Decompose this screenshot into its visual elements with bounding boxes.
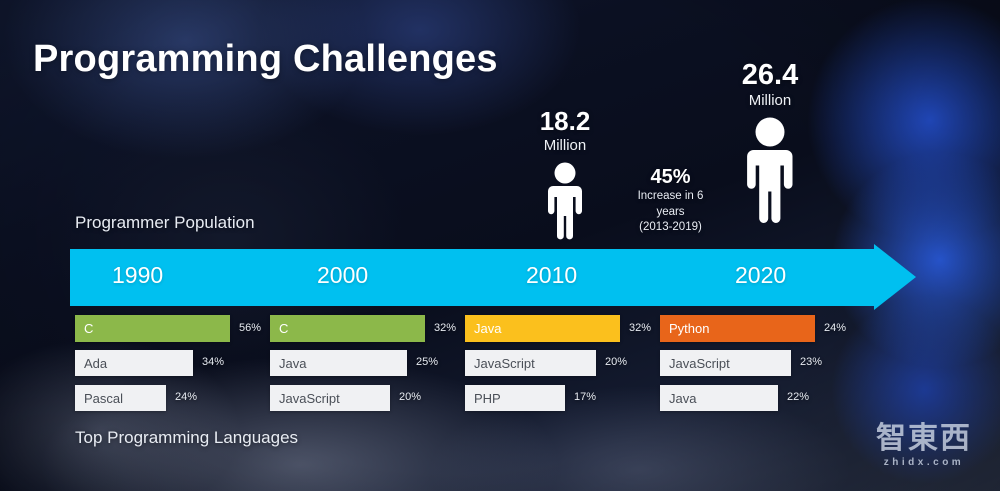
language-percent: 22% bbox=[787, 391, 809, 403]
population-value: 26.4 bbox=[705, 60, 835, 90]
language-percent: 25% bbox=[416, 356, 438, 368]
language-percent: 20% bbox=[399, 391, 421, 403]
increase-line-1: Increase in 6 bbox=[608, 189, 733, 205]
language-name: C bbox=[279, 321, 288, 336]
population-value: 18.2 bbox=[505, 108, 625, 135]
language-name: Pascal bbox=[84, 391, 123, 406]
language-row: JavaScript23% bbox=[660, 350, 860, 382]
language-percent: 24% bbox=[824, 322, 846, 334]
timeline-year-1990: 1990 bbox=[112, 262, 163, 289]
language-row: Java32% bbox=[465, 315, 665, 347]
language-column-2000: C32%Java25%JavaScript20% bbox=[270, 315, 470, 420]
language-name: Ada bbox=[84, 356, 107, 371]
person-icon bbox=[542, 162, 588, 245]
language-row: Java25% bbox=[270, 350, 470, 382]
language-bar-c[interactable]: C bbox=[270, 315, 425, 342]
population-unit: Million bbox=[505, 135, 625, 158]
language-bar-c[interactable]: C bbox=[75, 315, 230, 342]
population-marker-2013: 18.2 Million bbox=[505, 108, 625, 245]
language-percent: 32% bbox=[629, 322, 651, 334]
timeline-arrow-head-icon bbox=[874, 244, 916, 310]
language-row: Java22% bbox=[660, 385, 860, 417]
language-percent: 34% bbox=[202, 356, 224, 368]
language-name: JavaScript bbox=[669, 356, 730, 371]
language-column-1990: C56%Ada34%Pascal24% bbox=[75, 315, 275, 420]
timeline-year-2010: 2010 bbox=[526, 262, 577, 289]
language-bar-javascript[interactable]: JavaScript bbox=[465, 350, 596, 376]
language-row: Ada34% bbox=[75, 350, 275, 382]
language-row: C56% bbox=[75, 315, 275, 347]
language-percent: 23% bbox=[800, 356, 822, 368]
language-percent: 20% bbox=[605, 356, 627, 368]
language-row: C32% bbox=[270, 315, 470, 347]
language-bar-java[interactable]: Java bbox=[465, 315, 620, 342]
languages-section-caption: Top Programming Languages bbox=[75, 428, 298, 448]
language-row: Pascal24% bbox=[75, 385, 275, 417]
watermark: 智東西 zhidx.com bbox=[862, 424, 986, 468]
language-name: Java bbox=[279, 356, 306, 371]
language-name: JavaScript bbox=[474, 356, 535, 371]
language-column-2010: Java32%JavaScript20%PHP17% bbox=[465, 315, 665, 420]
language-name: Java bbox=[669, 391, 696, 406]
increase-line-2: years bbox=[608, 205, 733, 221]
language-row: Python24% bbox=[660, 315, 860, 347]
language-row: JavaScript20% bbox=[465, 350, 665, 382]
watermark-logo: 智東西 bbox=[862, 424, 986, 454]
language-row: PHP17% bbox=[465, 385, 665, 417]
language-bar-javascript[interactable]: JavaScript bbox=[660, 350, 791, 376]
page-title: Programming Challenges bbox=[33, 38, 498, 81]
increase-percent: 45% bbox=[608, 165, 733, 189]
language-percent: 56% bbox=[239, 322, 261, 334]
language-bar-python[interactable]: Python bbox=[660, 315, 815, 342]
population-section-caption: Programmer Population bbox=[75, 213, 255, 233]
timeline-arrow: 1990200020102020 bbox=[70, 249, 915, 306]
language-bar-ada[interactable]: Ada bbox=[75, 350, 193, 376]
language-bar-javascript[interactable]: JavaScript bbox=[270, 385, 390, 411]
language-name: Python bbox=[669, 321, 709, 336]
watermark-url: zhidx.com bbox=[862, 457, 986, 468]
increase-annotation: 45% Increase in 6 years (2013-2019) bbox=[608, 165, 733, 236]
timeline-year-2020: 2020 bbox=[735, 262, 786, 289]
increase-line-3: (2013-2019) bbox=[608, 220, 733, 236]
language-bar-java[interactable]: Java bbox=[660, 385, 778, 411]
language-row: JavaScript20% bbox=[270, 385, 470, 417]
person-icon bbox=[740, 117, 800, 230]
language-name: C bbox=[84, 321, 93, 336]
language-column-2020: Python24%JavaScript23%Java22% bbox=[660, 315, 860, 420]
language-name: JavaScript bbox=[279, 391, 340, 406]
population-unit: Million bbox=[705, 90, 835, 113]
language-percent: 24% bbox=[175, 391, 197, 403]
language-percent: 32% bbox=[434, 322, 456, 334]
language-name: PHP bbox=[474, 391, 501, 406]
language-percent: 17% bbox=[574, 391, 596, 403]
language-bar-java[interactable]: Java bbox=[270, 350, 407, 376]
timeline-year-2000: 2000 bbox=[317, 262, 368, 289]
language-name: Java bbox=[474, 321, 501, 336]
language-bar-php[interactable]: PHP bbox=[465, 385, 565, 411]
language-bar-pascal[interactable]: Pascal bbox=[75, 385, 166, 411]
